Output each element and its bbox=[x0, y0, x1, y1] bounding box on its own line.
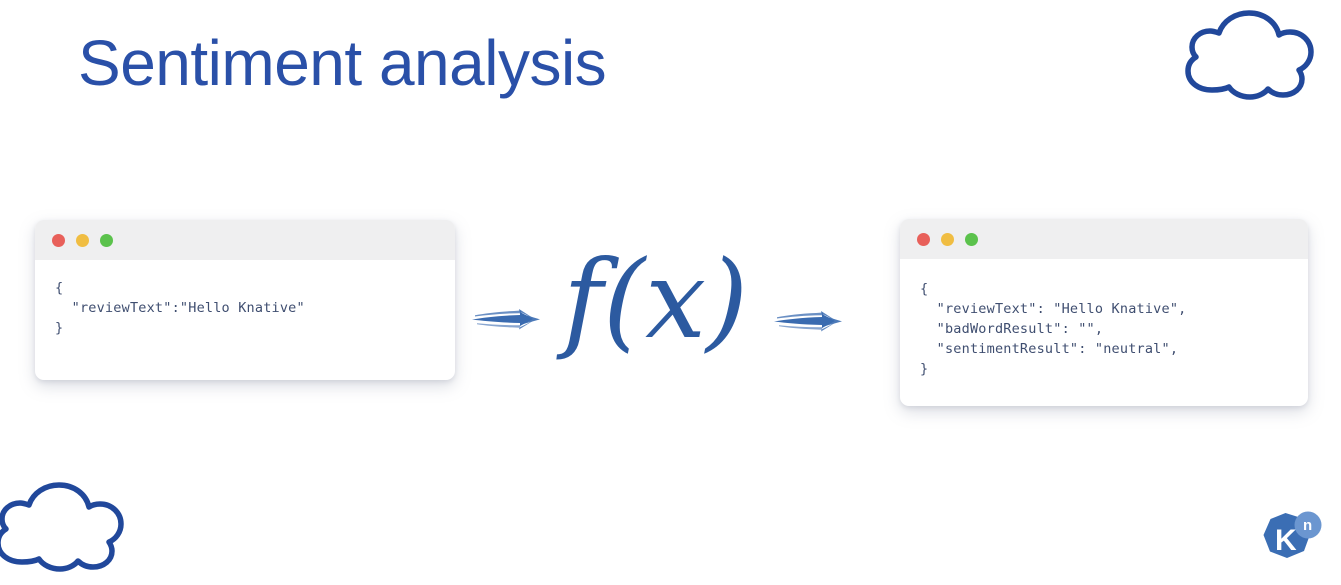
knative-letter-k: K bbox=[1275, 524, 1297, 557]
arrow-function-to-output bbox=[772, 298, 850, 347]
close-dot[interactable] bbox=[52, 234, 65, 247]
maximize-dot[interactable] bbox=[100, 234, 113, 247]
minimize-dot[interactable] bbox=[941, 233, 954, 246]
arrow-input-to-function bbox=[470, 296, 548, 345]
knative-logo: K n bbox=[1258, 509, 1324, 578]
cloud-icon bbox=[0, 480, 130, 581]
minimize-dot[interactable] bbox=[76, 234, 89, 247]
function-symbol: f(x) bbox=[563, 247, 748, 355]
knative-letter-n: n bbox=[1303, 517, 1312, 534]
input-request-window: { "reviewText":"Hello Knative" } bbox=[35, 220, 455, 380]
cloud-icon bbox=[1168, 8, 1320, 109]
maximize-dot[interactable] bbox=[965, 233, 978, 246]
output-response-window: { "reviewText": "Hello Knative", "badWor… bbox=[900, 219, 1308, 406]
window-titlebar bbox=[35, 220, 455, 260]
window-titlebar bbox=[900, 219, 1308, 259]
output-json-code: { "reviewText": "Hello Knative", "badWor… bbox=[900, 259, 1308, 395]
input-json-code: { "reviewText":"Hello Knative" } bbox=[35, 260, 455, 354]
close-dot[interactable] bbox=[917, 233, 930, 246]
page-title: Sentiment analysis bbox=[78, 28, 606, 98]
